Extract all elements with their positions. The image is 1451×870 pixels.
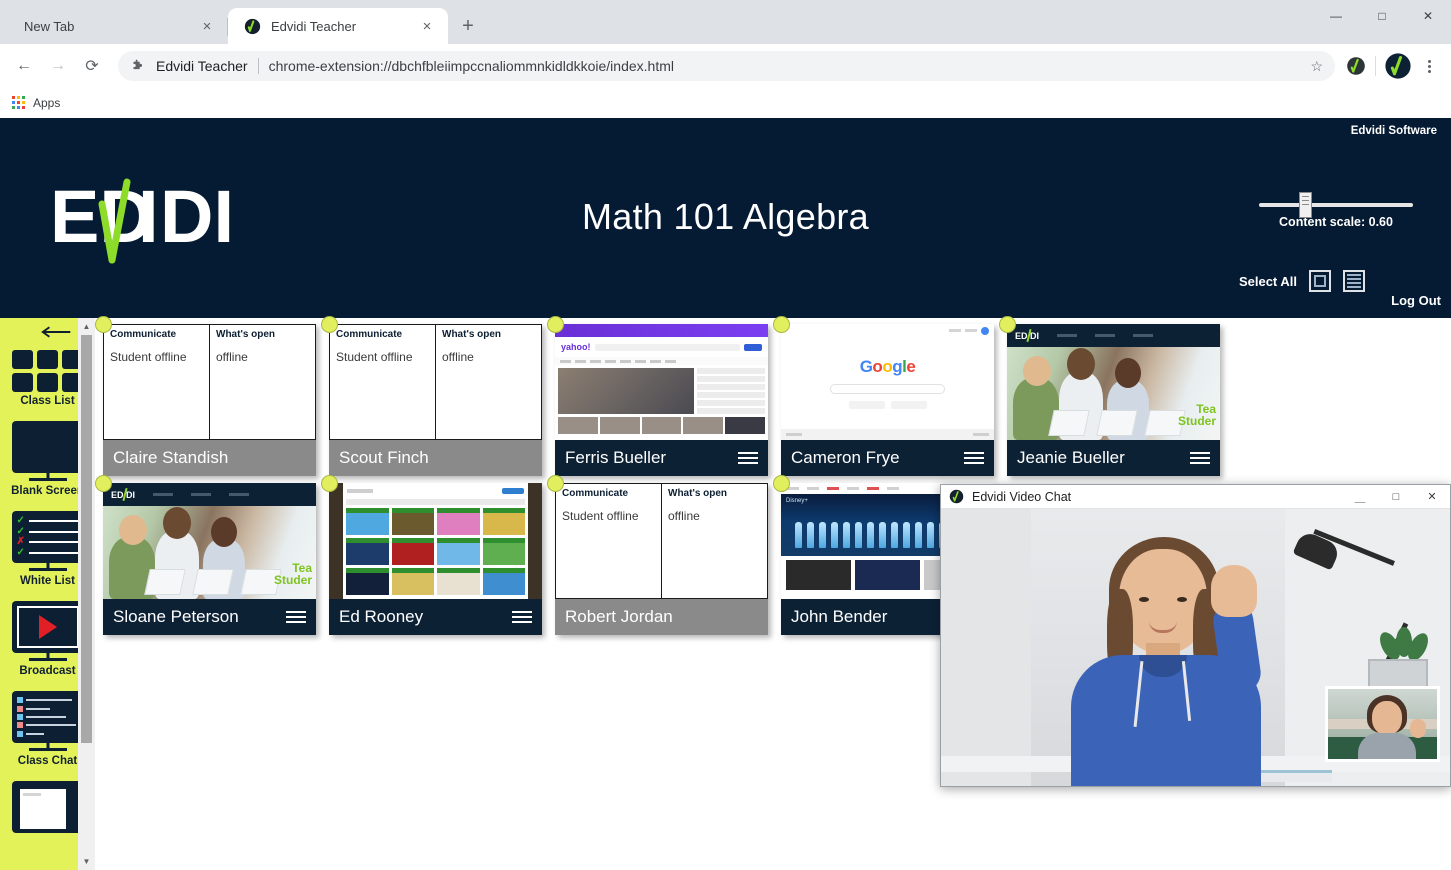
- close-icon[interactable]: ×: [198, 17, 216, 35]
- status-badge: [547, 475, 564, 492]
- student-name: Ferris Bueller: [565, 448, 738, 468]
- student-screen-thumbnail[interactable]: [329, 483, 542, 599]
- hamburger-menu-icon[interactable]: [964, 452, 984, 464]
- profile-avatar-icon[interactable]: [1384, 52, 1412, 80]
- close-icon[interactable]: ×: [418, 17, 436, 35]
- reload-icon[interactable]: ⟳: [76, 50, 108, 82]
- hamburger-menu-icon[interactable]: [512, 611, 532, 623]
- puzzle-piece-icon: [130, 58, 146, 74]
- checklist-icon: ✓ ✓ ✗ ✓: [12, 511, 84, 563]
- bookmarks-bar: Apps: [0, 88, 1451, 118]
- video-chat-titlebar[interactable]: Edvidi Video Chat ＿ □ ✕: [941, 485, 1450, 509]
- student-name: Sloane Peterson: [113, 607, 286, 627]
- student-card[interactable]: Ed Rooney: [329, 483, 542, 635]
- student-name-bar: Ed Rooney: [329, 599, 542, 635]
- sidebar-item-label: White List: [20, 575, 75, 587]
- panel-value: Student offline: [336, 350, 429, 364]
- panel-value: offline: [442, 350, 535, 364]
- student-name-bar: Cameron Frye: [781, 440, 994, 476]
- toolbar-divider: [1375, 56, 1376, 76]
- student-name: Robert Jordan: [565, 607, 758, 627]
- status-badge: [321, 316, 338, 333]
- list-view-icon[interactable]: [1343, 270, 1365, 292]
- status-badge: [773, 316, 790, 333]
- google-page-thumbnail: Google: [781, 324, 994, 440]
- browser-toolbar: ← → ⟳ Edvidi Teacher chrome-extension://…: [0, 44, 1451, 88]
- header-tools: Select All: [1239, 270, 1365, 292]
- brand-label: Edvidi Software: [1351, 125, 1437, 137]
- whats-open-panel: What's open offline: [209, 325, 315, 439]
- communicate-panel: Communicate Student offline: [556, 484, 661, 598]
- apps-grid-icon[interactable]: [12, 96, 25, 109]
- student-name-bar: Claire Standish: [103, 440, 316, 476]
- content-scale-slider[interactable]: [1259, 203, 1413, 207]
- browser-tab-edvidi-teacher[interactable]: Edvidi Teacher ×: [228, 8, 448, 44]
- video-chat-main-stream: [941, 509, 1450, 787]
- edvidi-extension-icon[interactable]: [1345, 55, 1367, 77]
- status-badge: [999, 316, 1016, 333]
- yahoo-page-thumbnail: yahoo!: [555, 324, 768, 440]
- hamburger-menu-icon[interactable]: [286, 611, 306, 623]
- communicate-panel: Communicate Student offline: [330, 325, 435, 439]
- url-text: chrome-extension://dbchfbleiimpccnaliomm…: [269, 58, 674, 74]
- panel-title: Communicate: [110, 329, 203, 340]
- panel-title: What's open: [668, 488, 761, 499]
- grid-view-icon[interactable]: [1309, 270, 1331, 292]
- panel-value: Student offline: [562, 509, 655, 523]
- card-games-site-thumbnail: [329, 483, 542, 599]
- panel-value: offline: [668, 509, 761, 523]
- grid-icon: [12, 350, 83, 392]
- scroll-down-icon[interactable]: ▼: [78, 853, 95, 870]
- edvidi-favicon-icon: [244, 18, 261, 35]
- student-card[interactable]: Communicate Student offline What's open …: [555, 483, 768, 635]
- chat-icon: [12, 691, 84, 743]
- hamburger-menu-icon[interactable]: [1190, 452, 1210, 464]
- student-screen-thumbnail[interactable]: Google: [781, 324, 994, 440]
- video-chat-window[interactable]: Edvidi Video Chat ＿ □ ✕: [940, 484, 1451, 787]
- toolbar-right-icons: [1345, 52, 1443, 80]
- panel-title: Communicate: [562, 488, 655, 499]
- forward-icon[interactable]: →: [42, 50, 74, 82]
- back-icon[interactable]: ←: [8, 50, 40, 82]
- hamburger-menu-icon[interactable]: [738, 452, 758, 464]
- panel-value: offline: [216, 350, 309, 364]
- student-name-bar: Ferris Bueller: [555, 440, 768, 476]
- status-badge: [321, 475, 338, 492]
- communicate-panel: Communicate Student offline: [104, 325, 209, 439]
- student-card-body: Communicate Student offline What's open …: [329, 324, 542, 440]
- student-name-bar: Jeanie Bueller: [1007, 440, 1220, 476]
- window-controls: — □ ✕: [1313, 0, 1451, 32]
- scrollbar-thumb[interactable]: [81, 335, 92, 743]
- window-maximize-button[interactable]: □: [1359, 0, 1405, 32]
- status-badge: [547, 316, 564, 333]
- student-screen-thumbnail[interactable]: ED DI TeaStuder: [103, 483, 316, 599]
- student-screen-thumbnail[interactable]: yahoo!: [555, 324, 768, 440]
- video-chat-minimize-button[interactable]: ＿: [1346, 486, 1374, 508]
- sidebar-item-label: Broadcast: [19, 665, 75, 677]
- browser-tab-new-tab[interactable]: New Tab ×: [8, 8, 228, 44]
- app-header: Edvidi Software ED DI I Math 101 Algebra…: [0, 118, 1451, 318]
- browser-chrome: New Tab × Edvidi Teacher × + — □ ✕ ← → ⟳: [0, 0, 1451, 118]
- student-card-body: Communicate Student offline What's open …: [103, 324, 316, 440]
- edvidi-icon: [949, 489, 964, 504]
- select-all-label[interactable]: Select All: [1239, 274, 1297, 289]
- sidebar: Class List Blank Screen ✓ ✓ ✗ ✓ White Li…: [0, 318, 95, 870]
- whats-open-panel: What's open offline: [661, 484, 767, 598]
- sidebar-item-label: Class List: [20, 395, 74, 407]
- student-card[interactable]: ED DI TeaStuder Sloane Peterson: [103, 483, 316, 635]
- content-scale-label: Content scale: 0.60: [1251, 215, 1421, 229]
- student-name: Cameron Frye: [791, 448, 964, 468]
- bookmark-star-icon[interactable]: ☆: [1310, 58, 1323, 75]
- panel-value: Student offline: [110, 350, 203, 364]
- edvidi-site-thumbnail: ED DI TeaStuder: [103, 483, 316, 599]
- status-badge: [773, 475, 790, 492]
- sidebar-item-label: Class Chat: [18, 755, 77, 767]
- play-icon: [12, 601, 84, 653]
- panel-title: What's open: [216, 329, 309, 340]
- student-name-bar: Sloane Peterson: [103, 599, 316, 635]
- logout-button[interactable]: Log Out: [1391, 293, 1441, 308]
- slider-thumb[interactable]: [1299, 192, 1312, 218]
- omnibox-divider: [258, 58, 259, 74]
- video-chat-maximize-button[interactable]: □: [1382, 486, 1410, 508]
- student-card-body: Communicate Student offline What's open …: [555, 483, 768, 599]
- scroll-up-icon[interactable]: ▲: [78, 318, 95, 335]
- picture-in-picture-view[interactable]: [1325, 686, 1440, 762]
- monitor-icon: [12, 421, 84, 473]
- chrome-menu-icon[interactable]: [1420, 60, 1439, 73]
- student-screen-thumbnail[interactable]: ED DI TeaStuder: [1007, 324, 1220, 440]
- tab-title: New Tab: [24, 19, 188, 34]
- document-icon: [12, 781, 84, 833]
- student-name: Claire Standish: [113, 448, 306, 468]
- sidebar-item-label: Blank Screen: [11, 485, 84, 497]
- panel-title: What's open: [442, 329, 535, 340]
- video-chat-title: Edvidi Video Chat: [972, 490, 1338, 504]
- extension-name-label: Edvidi Teacher: [156, 58, 248, 74]
- status-badge: [95, 316, 112, 333]
- student-name-bar: Scout Finch: [329, 440, 542, 476]
- student-name: Jeanie Bueller: [1017, 448, 1190, 468]
- student-card[interactable]: Communicate Student offline What's open …: [329, 324, 542, 476]
- apps-label[interactable]: Apps: [33, 96, 60, 110]
- video-chat-close-button[interactable]: ✕: [1418, 486, 1446, 508]
- page-title: Math 101 Algebra: [0, 196, 1451, 238]
- sidebar-scrollbar[interactable]: ▲ ▼: [78, 318, 95, 870]
- content-scale-control: Content scale: 0.60: [1251, 203, 1421, 229]
- student-card[interactable]: ED DI TeaStuder Jeanie Bueller: [1007, 324, 1220, 476]
- student-name-bar: Robert Jordan: [555, 599, 768, 635]
- student-name: Scout Finch: [339, 448, 532, 468]
- whats-open-panel: What's open offline: [435, 325, 541, 439]
- edvidi-site-thumbnail: ED DI TeaStuder: [1007, 324, 1220, 440]
- student-name: Ed Rooney: [339, 607, 512, 627]
- window-close-button[interactable]: ✕: [1405, 0, 1451, 32]
- window-minimize-button[interactable]: —: [1313, 0, 1359, 32]
- student-card[interactable]: Google Cameron Frye: [781, 324, 994, 476]
- address-bar[interactable]: Edvidi Teacher chrome-extension://dbchfb…: [118, 51, 1335, 81]
- tab-strip: New Tab × Edvidi Teacher × + — □ ✕: [0, 0, 1451, 44]
- panel-title: Communicate: [336, 329, 429, 340]
- student-card[interactable]: Communicate Student offline What's open …: [103, 324, 316, 476]
- student-card[interactable]: yahoo! Ferris Bueller: [555, 324, 768, 476]
- tab-title: Edvidi Teacher: [271, 19, 408, 34]
- video-participant: [1061, 543, 1296, 787]
- status-badge: [95, 475, 112, 492]
- new-tab-button[interactable]: +: [454, 12, 482, 40]
- student-row: Communicate Student offline What's open …: [103, 324, 1451, 476]
